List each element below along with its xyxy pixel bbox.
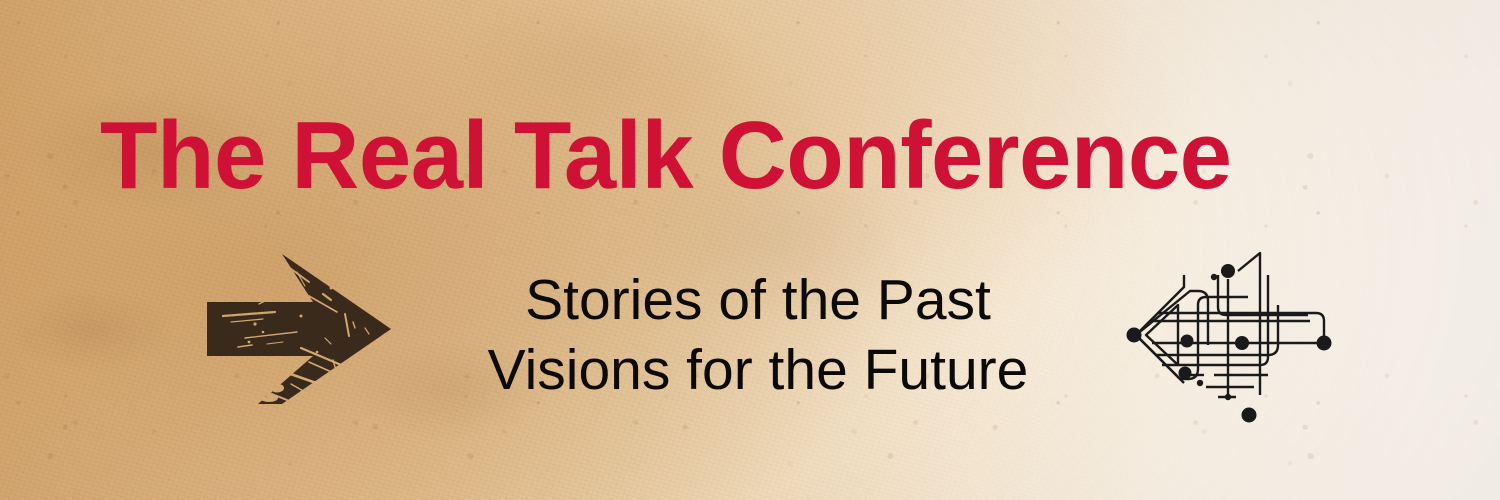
circuit-left-arrow-icon [1118, 245, 1348, 425]
grunge-right-arrow-icon [205, 252, 395, 407]
subtitle-line-1: Stories of the Past [418, 266, 1098, 336]
subtitle-line-2: Visions for the Future [418, 336, 1098, 406]
page-title: The Real Talk Conference [100, 108, 1231, 204]
page-subtitle: Stories of the Past Visions for the Futu… [418, 266, 1098, 405]
conference-banner: The Real Talk Conference [0, 0, 1500, 500]
